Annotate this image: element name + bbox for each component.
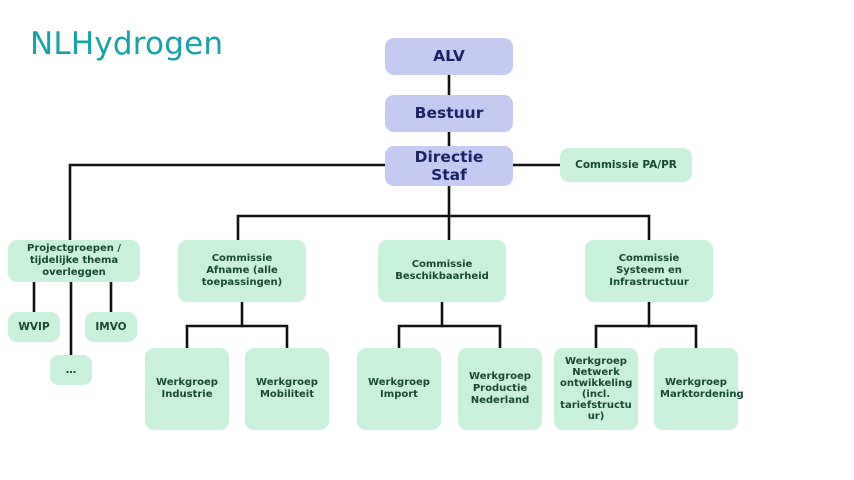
node-wvip-label: WVIP — [8, 321, 60, 333]
node-imvo-label: IMVO — [85, 321, 137, 333]
node-werkgroep-industrie-label: Werkgroep Industrie — [145, 377, 229, 401]
node-werkgroep-productie-label: Werkgroep Productie Nederland — [458, 371, 542, 406]
node-wvip[interactable]: WVIP — [8, 312, 60, 342]
node-projectgroepen-line-2: tijdelijke thema — [11, 255, 137, 267]
node-werkgroep-mobiliteit-line-2: Mobiliteit — [248, 389, 326, 401]
node-werkgroep-import[interactable]: Werkgroep Import — [357, 348, 441, 430]
node-werkgroep-import-line-2: Import — [360, 389, 438, 401]
node-commissie-systeem-label: Commissie Systeem en Infrastructuur — [585, 253, 713, 288]
page-title: NLHydrogen — [30, 26, 223, 62]
node-werkgroep-netwerk-line-2: Netwerk — [557, 367, 635, 378]
node-werkgroep-netwerk-line-3: ontwikkeling — [557, 378, 635, 389]
node-werkgroep-marktordening-line-1: Werkgroep — [657, 377, 735, 389]
node-projectgroepen-line-1: Projectgroepen / — [11, 243, 137, 255]
node-werkgroep-marktordening[interactable]: Werkgroep Marktordening — [654, 348, 738, 430]
node-ellipsis-label: … — [50, 364, 92, 376]
node-commissie-systeem-infrastructuur[interactable]: Commissie Systeem en Infrastructuur — [585, 240, 713, 302]
node-werkgroep-marktordening-label: Werkgroep Marktordening — [654, 377, 738, 401]
node-werkgroep-mobiliteit-line-1: Werkgroep — [248, 377, 326, 389]
node-commissie-beschikbaarheid-line-2: Beschikbaarheid — [381, 271, 503, 283]
node-commissie-afname[interactable]: Commissie Afname (alle toepassingen) — [178, 240, 306, 302]
node-bestuur[interactable]: Bestuur — [385, 95, 513, 132]
node-werkgroep-netwerkontwikkeling[interactable]: Werkgroep Netwerk ontwikkeling (incl. ta… — [554, 348, 638, 430]
node-werkgroep-productie-line-1: Werkgroep — [461, 371, 539, 383]
node-werkgroep-productie-nederland[interactable]: Werkgroep Productie Nederland — [458, 348, 542, 430]
node-directie-staf-label: Directie Staf — [385, 148, 513, 185]
node-werkgroep-marktordening-line-2: Marktordening — [657, 389, 735, 401]
node-projectgroepen-label: Projectgroepen / tijdelijke thema overle… — [8, 243, 140, 278]
node-directie-staf[interactable]: Directie Staf — [385, 146, 513, 186]
node-alv-label: ALV — [385, 47, 513, 65]
node-werkgroep-import-label: Werkgroep Import — [357, 377, 441, 401]
node-directie-line-1: Directie — [388, 148, 510, 166]
node-commissie-beschikbaarheid-label: Commissie Beschikbaarheid — [378, 259, 506, 283]
node-werkgroep-industrie-line-1: Werkgroep — [148, 377, 226, 389]
node-werkgroep-productie-line-2: Productie — [461, 383, 539, 395]
node-werkgroep-productie-line-3: Nederland — [461, 395, 539, 407]
node-commissie-afname-line-3: toepassingen) — [181, 277, 303, 289]
node-bestuur-label: Bestuur — [385, 104, 513, 122]
node-werkgroep-industrie-line-2: Industrie — [148, 389, 226, 401]
node-werkgroep-import-line-1: Werkgroep — [360, 377, 438, 389]
node-commissie-beschikbaarheid[interactable]: Commissie Beschikbaarheid — [378, 240, 506, 302]
node-werkgroep-mobiliteit-label: Werkgroep Mobiliteit — [245, 377, 329, 401]
node-commissie-pa-pr-label: Commissie PA/PR — [560, 159, 692, 171]
node-projectgroepen[interactable]: Projectgroepen / tijdelijke thema overle… — [8, 240, 140, 282]
node-werkgroep-netwerk-label: Werkgroep Netwerk ontwikkeling (incl. ta… — [554, 356, 638, 422]
node-commissie-beschikbaarheid-line-1: Commissie — [381, 259, 503, 271]
node-commissie-systeem-line-1: Commissie — [588, 253, 710, 265]
node-werkgroep-mobiliteit[interactable]: Werkgroep Mobiliteit — [245, 348, 329, 430]
node-werkgroep-netwerk-line-5: tariefstructu — [557, 400, 635, 411]
node-commissie-afname-line-1: Commissie — [181, 253, 303, 265]
node-commissie-systeem-line-2: Systeem en — [588, 265, 710, 277]
node-ellipsis-placeholder[interactable]: … — [50, 355, 92, 385]
node-alv[interactable]: ALV — [385, 38, 513, 75]
node-projectgroepen-line-3: overleggen — [11, 267, 137, 279]
node-werkgroep-netwerk-line-4: (incl. — [557, 389, 635, 400]
node-werkgroep-netwerk-line-6: ur) — [557, 411, 635, 422]
node-commissie-pa-pr[interactable]: Commissie PA/PR — [560, 148, 692, 182]
node-werkgroep-industrie[interactable]: Werkgroep Industrie — [145, 348, 229, 430]
node-directie-line-2: Staf — [388, 166, 510, 184]
node-werkgroep-netwerk-line-1: Werkgroep — [557, 356, 635, 367]
organogram-canvas: NLHydrogen — [0, 0, 854, 480]
node-commissie-afname-label: Commissie Afname (alle toepassingen) — [178, 253, 306, 288]
node-commissie-systeem-line-3: Infrastructuur — [588, 277, 710, 289]
node-commissie-afname-line-2: Afname (alle — [181, 265, 303, 277]
node-imvo[interactable]: IMVO — [85, 312, 137, 342]
